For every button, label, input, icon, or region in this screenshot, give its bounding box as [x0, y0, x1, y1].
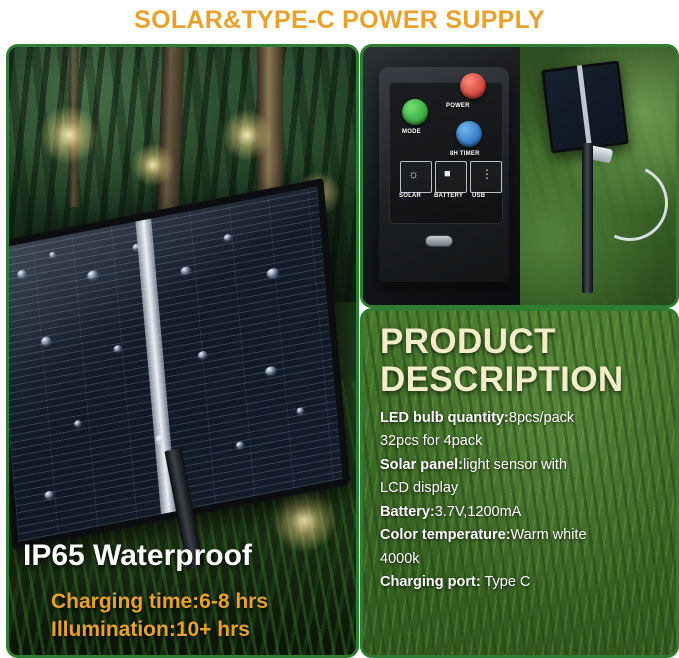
spec-row: 4000k	[380, 548, 672, 571]
spec-row: Color temperature:Warm white	[380, 524, 672, 547]
description-title: PRODUCT DESCRIPTION	[380, 323, 670, 399]
power-button-label: POWER	[446, 103, 470, 109]
charging-time-line: Charging time:6-8 hrs	[51, 588, 268, 616]
spec-value: 3.7V,1200mA	[435, 504, 522, 520]
page-title: SOLAR&TYPE-C POWER SUPPLY	[134, 6, 545, 35]
solar-indicator-label: SOLAR	[399, 193, 421, 199]
waterproof-caption: IP65 Waterproof	[23, 539, 252, 573]
spec-value: Warm white	[511, 527, 587, 543]
mode-button-label: MODE	[402, 129, 421, 135]
spec-value: 8pcs/pack	[509, 410, 574, 426]
power-button[interactable]	[460, 73, 486, 99]
battery-indicator-icon: ■	[435, 161, 467, 193]
spec-value: LCD display	[380, 480, 458, 496]
description-spec-list: LED bulb quantity:8pcs/pack 32pcs for 4p…	[380, 407, 672, 595]
light-glow	[131, 143, 175, 187]
spec-value: 4000k	[380, 551, 420, 567]
timer-button-label: 8H TIMER	[450, 151, 480, 157]
spec-value: light sensor with	[463, 457, 567, 473]
controller-closeup-photo: POWER MODE 8H TIMER ☼ SOLAR ■ BATTERY ⋮ …	[363, 47, 520, 305]
light-glow	[221, 109, 273, 161]
product-infographic: SOLAR&TYPE-C POWER SUPPLY	[0, 0, 679, 658]
spec-row: LED bulb quantity:8pcs/pack	[380, 407, 672, 430]
spec-value: 32pcs for 4pack	[380, 433, 482, 449]
header-banner: SOLAR&TYPE-C POWER SUPPLY	[0, 0, 679, 40]
usb-c-port	[425, 235, 453, 247]
spec-key: Battery:	[380, 504, 435, 520]
usb-indicator-icon: ⋮	[470, 161, 502, 193]
description-title-line2: DESCRIPTION	[380, 361, 670, 399]
usb-indicator-label: USB	[472, 193, 485, 199]
spec-key: Color temperature:	[380, 527, 511, 543]
illumination-line: Illumination:10+ hrs	[51, 616, 268, 644]
spec-row: 32pcs for 4pack	[380, 430, 672, 453]
description-title-line1: PRODUCT	[380, 323, 670, 361]
spec-row: LCD display	[380, 477, 672, 500]
spec-key: Solar panel:	[380, 457, 463, 473]
spec-row: Battery:3.7V,1200mA	[380, 501, 672, 524]
solar-indicator-icon: ☼	[400, 161, 432, 193]
light-glow	[39, 105, 99, 165]
pole-mounted-panel-photo	[520, 47, 677, 305]
product-description-panel: PRODUCT DESCRIPTION LED bulb quantity:8p…	[360, 308, 679, 658]
timer-button[interactable]	[456, 121, 482, 147]
charging-caption: Charging time:6-8 hrs Illumination:10+ h…	[51, 588, 268, 643]
solar-panel-assembly	[6, 155, 359, 584]
solar-panel-small	[541, 61, 629, 154]
spec-key: Charging port:	[380, 574, 481, 590]
controller-faceplate: POWER MODE 8H TIMER ☼ SOLAR ■ BATTERY ⋮ …	[389, 82, 503, 224]
spec-key: LED bulb quantity:	[380, 410, 509, 426]
spec-value: Type C	[481, 574, 531, 590]
spec-row: Charging port: Type C	[380, 571, 672, 594]
mode-button[interactable]	[402, 99, 428, 125]
battery-indicator-label: BATTERY	[434, 193, 463, 199]
mounting-pole	[582, 143, 593, 293]
left-product-photo: IP65 Waterproof Charging time:6-8 hrs Il…	[6, 44, 359, 658]
spec-row: Solar panel:light sensor with	[380, 454, 672, 477]
top-right-photo-pair: POWER MODE 8H TIMER ☼ SOLAR ■ BATTERY ⋮ …	[360, 44, 679, 308]
